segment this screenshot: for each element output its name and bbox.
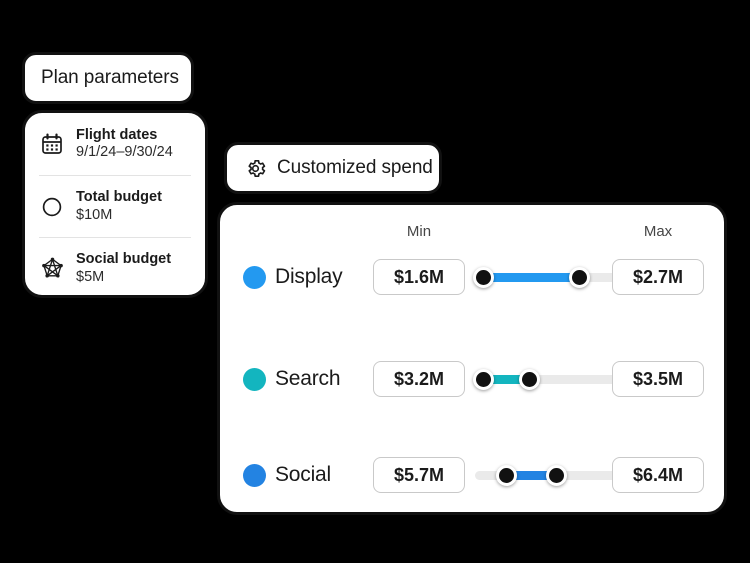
budget-range-slider[interactable] xyxy=(475,361,618,397)
max-value-input[interactable]: $6.4M xyxy=(612,457,704,493)
min-value-input[interactable]: $1.6M xyxy=(373,259,465,295)
min-value-input[interactable]: $5.7M xyxy=(373,457,465,493)
channel-row-display: Display $1.6M $2.7M xyxy=(220,253,724,301)
column-header-max: Max xyxy=(644,223,672,240)
network-star-icon xyxy=(39,256,65,282)
param-title: Social budget xyxy=(76,251,171,268)
slider-handle-min[interactable] xyxy=(496,465,517,486)
customized-spend-card: Min Max Display $1.6M $2.7M Search xyxy=(217,202,727,515)
channel-name: Search xyxy=(275,367,340,391)
channel-name: Social xyxy=(275,463,331,487)
budget-range-slider[interactable] xyxy=(475,457,618,493)
slider-handle-max[interactable] xyxy=(519,369,540,390)
channel-color-dot xyxy=(243,368,266,391)
param-text-social-budget: Social budget $5M xyxy=(76,251,171,285)
param-row-flight-dates[interactable]: Flight dates 9/1/24–9/30/24 xyxy=(39,113,191,175)
param-row-social-budget[interactable]: Social budget $5M xyxy=(39,237,191,299)
column-header-min: Min xyxy=(407,223,431,240)
max-value-input[interactable]: $3.5M xyxy=(612,361,704,397)
slider-handle-min[interactable] xyxy=(473,267,494,288)
min-value-input[interactable]: $3.2M xyxy=(373,361,465,397)
param-text-total-budget: Total budget $10M xyxy=(76,189,162,223)
calendar-icon xyxy=(39,131,65,157)
plan-parameters-tab-label: Plan parameters xyxy=(41,67,179,89)
channel-row-social: Social $5.7M $6.4M xyxy=(220,451,724,499)
channel-row-search: Search $3.2M $3.5M xyxy=(220,355,724,403)
customized-spend-tab[interactable]: Customized spend xyxy=(224,142,442,194)
param-title: Total budget xyxy=(76,189,162,206)
param-row-total-budget[interactable]: Total budget $10M xyxy=(39,175,191,237)
column-headers: Min Max xyxy=(220,223,724,243)
param-value: 9/1/24–9/30/24 xyxy=(76,144,173,161)
screenshot-stage: Plan parameters xyxy=(0,0,750,563)
slider-fill xyxy=(484,273,580,282)
plan-parameters-card: Flight dates 9/1/24–9/30/24 Total budget… xyxy=(22,110,208,298)
param-text-flight-dates: Flight dates 9/1/24–9/30/24 xyxy=(76,127,173,161)
channel-name: Display xyxy=(275,265,342,289)
gear-icon xyxy=(243,156,267,180)
customized-spend-tab-label: Customized spend xyxy=(277,157,433,179)
channel-color-dot xyxy=(243,464,266,487)
slider-handle-max[interactable] xyxy=(546,465,567,486)
channel-rows: Display $1.6M $2.7M Search $3.2M xyxy=(220,247,724,512)
param-title: Flight dates xyxy=(76,127,173,144)
plan-parameters-tab[interactable]: Plan parameters xyxy=(22,52,194,104)
circle-icon xyxy=(39,194,65,220)
channel-color-dot xyxy=(243,266,266,289)
max-value-input[interactable]: $2.7M xyxy=(612,259,704,295)
param-value: $5M xyxy=(76,269,171,286)
slider-handle-min[interactable] xyxy=(473,369,494,390)
slider-handle-max[interactable] xyxy=(569,267,590,288)
param-value: $10M xyxy=(76,207,162,224)
budget-range-slider[interactable] xyxy=(475,259,618,295)
